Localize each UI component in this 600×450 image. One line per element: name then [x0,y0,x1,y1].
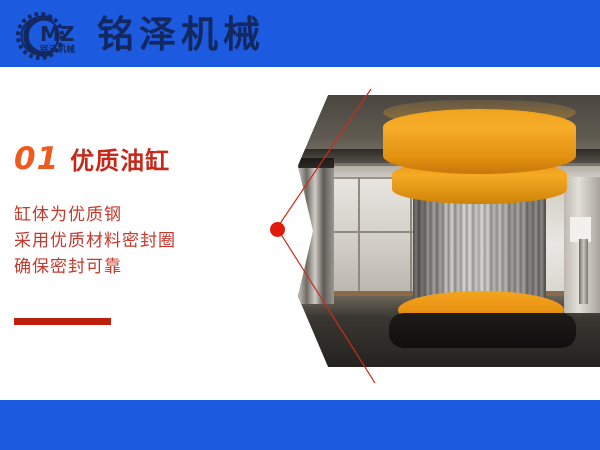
brand-title: 铭泽机械 [97,10,265,60]
svg-text:MZ: MZ [40,22,74,46]
photo-orange-collar-upper [383,109,576,174]
header-bar: MZ 铭泽机械 铭泽机械 [0,0,600,67]
footer-bar [0,400,600,450]
svg-text:铭泽机械: 铭泽机械 [40,44,75,55]
section-title: 优质油缸 [70,141,170,176]
feature-line: 确保密封可靠 [14,254,254,280]
feature-list: 缸体为优质钢 采用优质材料密封圈 确保密封可靠 [14,202,254,280]
accent-rule [14,318,111,325]
poster-canvas: MZ 铭泽机械 铭泽机械 [0,0,600,450]
photo-right-rod [579,239,588,304]
photo-base-plate [389,313,576,348]
gear-logo-icon: MZ 铭泽机械 [6,8,84,64]
feature-line: 采用优质材料密封圈 [14,228,254,254]
red-dot-marker [270,222,285,237]
photo-cylinder-shading [413,190,546,299]
feature-line: 缸体为优质钢 [14,202,254,228]
section-number: 01 [14,141,59,177]
section-heading: 01 优质油缸 [14,141,170,175]
